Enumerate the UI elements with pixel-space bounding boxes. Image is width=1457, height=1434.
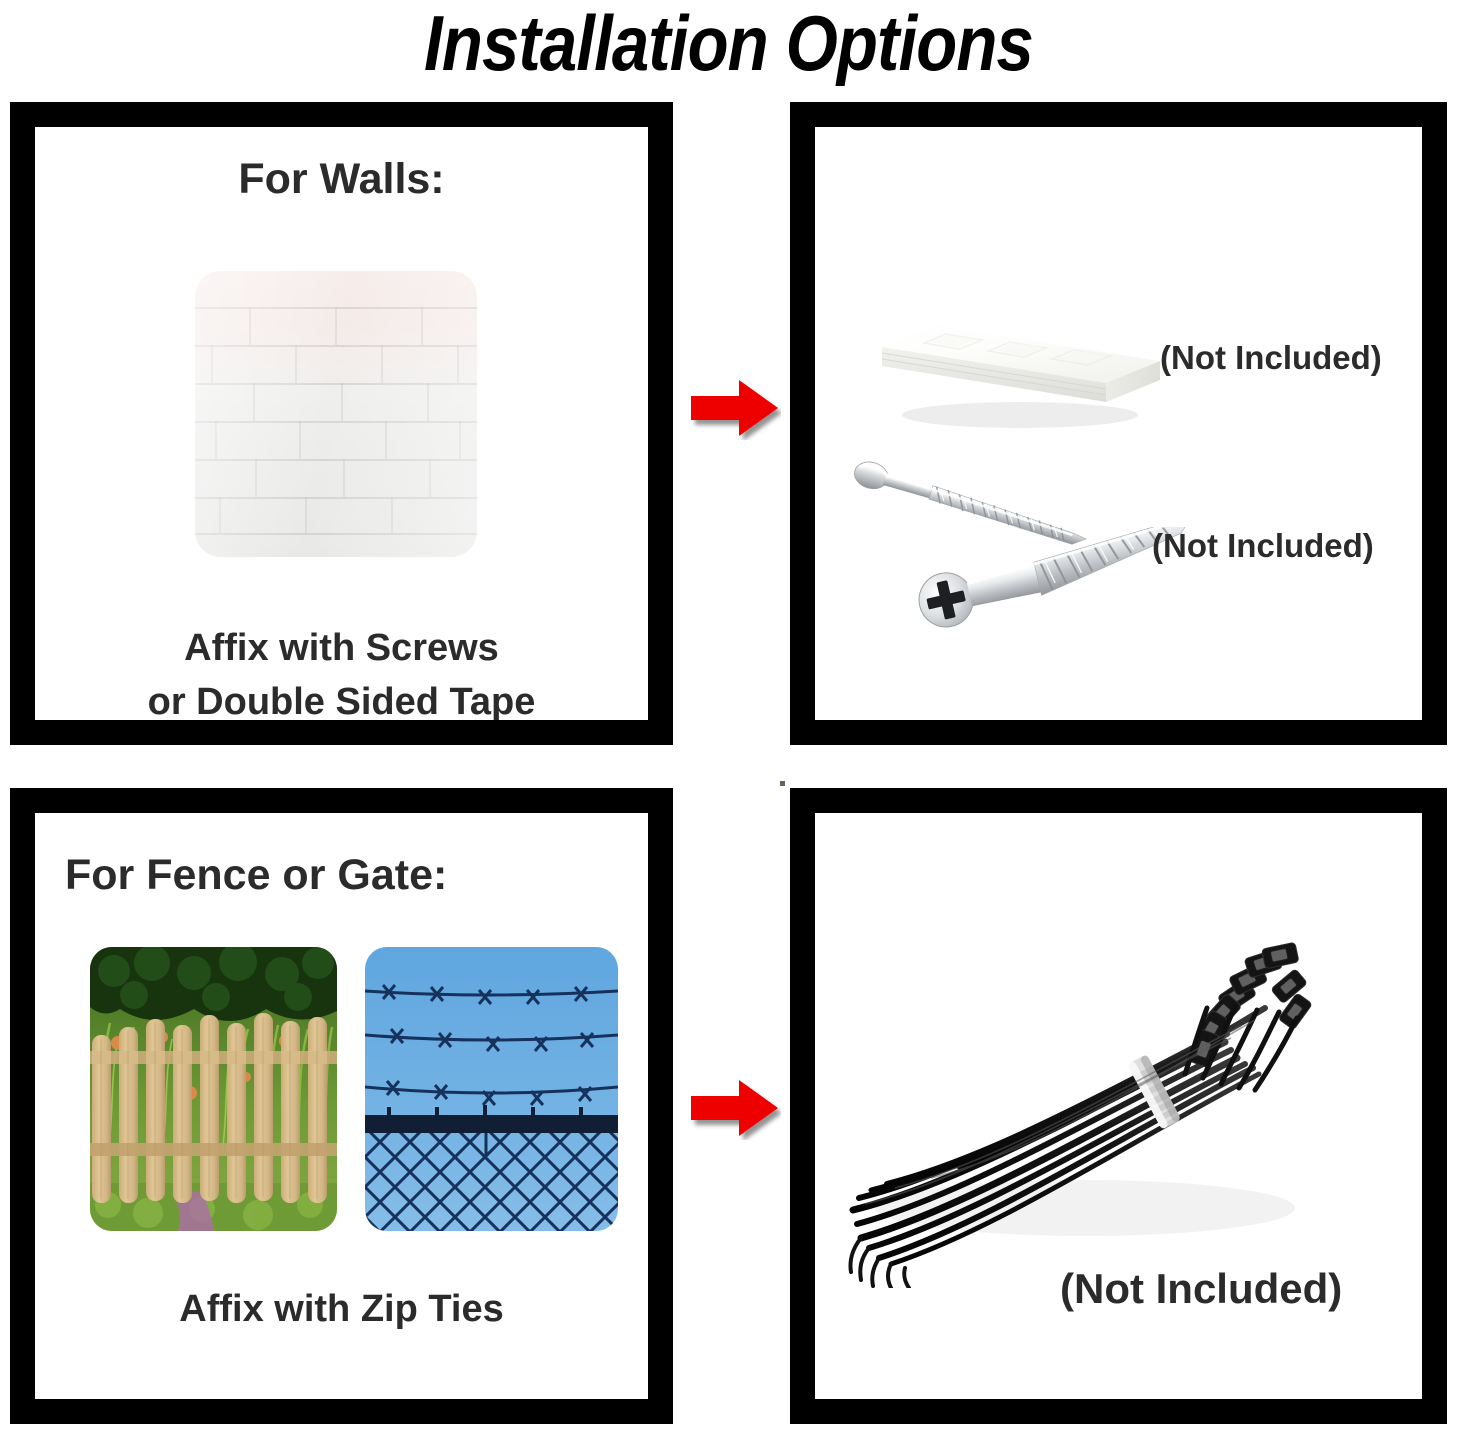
black-zip-ties-bundle-image	[835, 908, 1355, 1288]
screw-not-included-label: (Not Included)	[1152, 527, 1374, 565]
tape-not-included-label: (Not Included)	[1160, 339, 1382, 377]
caption-for-fence: Affix with Zip Ties	[35, 1283, 648, 1337]
heading-for-walls: For Walls:	[35, 155, 648, 204]
red-right-arrow-icon-bottom	[689, 1076, 781, 1140]
caption-line-2: or Double Sided Tape	[35, 676, 648, 720]
panel-fence-hardware: (Not Included)	[790, 788, 1447, 1424]
page-title: Installation Options	[102, 0, 1355, 86]
red-right-arrow-icon	[689, 376, 781, 440]
double-sided-tape-stack-image	[870, 247, 1170, 437]
scan-artifact-dot	[780, 781, 785, 786]
caption-for-walls: Affix with Screws or Double Sided Tape	[35, 622, 648, 720]
panel-for-fence-content: For Fence or Gate:	[35, 813, 648, 1399]
wooden-picket-fence-image	[90, 947, 337, 1231]
panel-fence-hardware-content: (Not Included)	[815, 813, 1422, 1399]
zip-ties-not-included-label: (Not Included)	[1060, 1265, 1342, 1313]
panel-for-fence-or-gate: For Fence or Gate:	[10, 788, 673, 1424]
chain-link-barbed-wire-fence-image	[365, 947, 618, 1231]
panel-wall-hardware-content: (Not Included)	[815, 127, 1422, 720]
white-brick-wall-image	[195, 271, 477, 557]
panel-for-walls: For Walls:	[10, 102, 673, 745]
panel-wall-hardware: (Not Included)	[790, 102, 1447, 745]
caption-line-1: Affix with Screws	[35, 622, 648, 676]
heading-for-fence-or-gate: For Fence or Gate:	[65, 851, 447, 900]
panel-for-walls-content: For Walls:	[35, 127, 648, 720]
